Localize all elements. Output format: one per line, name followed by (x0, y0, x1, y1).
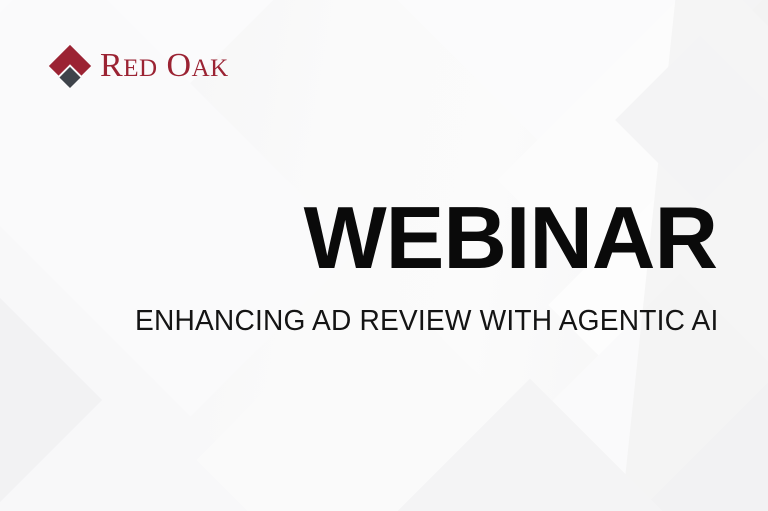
background-shape-upper-left (0, 0, 278, 228)
background-shape-upper-right-notch (615, 35, 768, 205)
background-shape-top-center-diamond (368, 0, 768, 182)
wordmark-o: O (167, 47, 192, 84)
background-shape-lower-left-dark (0, 188, 102, 511)
wordmark-r: R (100, 47, 123, 84)
red-oak-chevron-diamond-icon (48, 44, 92, 88)
wordmark-ak: AK (192, 55, 229, 82)
red-oak-logo: REDOAK (48, 44, 229, 88)
background-shape-bottom-right-shadow (650, 330, 768, 511)
page-title: WEBINAR (117, 196, 717, 280)
headline-block: WEBINAR ENHANCING AD REVIEW WITH AGENTIC… (117, 196, 717, 338)
page-subtitle: ENHANCING AD REVIEW WITH AGENTIC AI (135, 306, 717, 338)
background-shape-bottom-center-step (389, 379, 672, 511)
webinar-banner: REDOAK WEBINAR ENHANCING AD REVIEW WITH … (0, 0, 768, 511)
red-oak-wordmark: REDOAK (100, 49, 229, 83)
wordmark-ed: ED (123, 55, 157, 82)
